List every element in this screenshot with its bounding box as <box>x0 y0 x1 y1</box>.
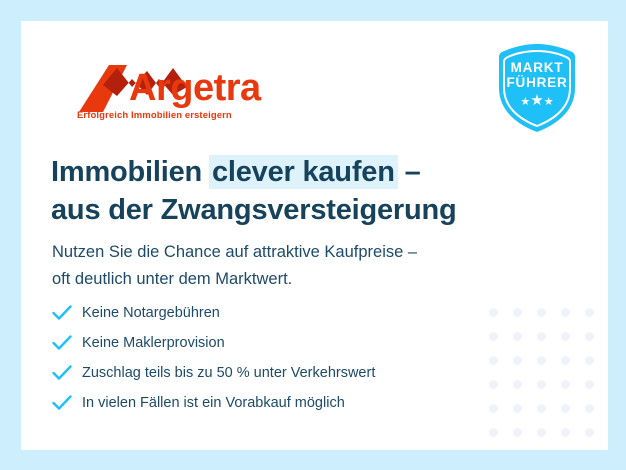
badge-text: MARKT FÜHRER <box>494 60 580 90</box>
list-item: Keine Maklerprovision <box>52 328 532 358</box>
benefit-label: Keine Maklerprovision <box>82 333 225 353</box>
star-icon: ★ <box>530 92 543 109</box>
dot <box>585 332 594 341</box>
dot <box>513 428 522 437</box>
dot <box>537 308 546 317</box>
check-icon <box>52 365 82 381</box>
dot <box>537 380 546 389</box>
market-leader-badge: MARKT FÜHRER ★★★ <box>494 42 580 134</box>
check-icon <box>52 305 82 321</box>
headline-highlight: clever kaufen <box>209 155 398 189</box>
benefit-label: Keine Notargebühren <box>82 303 220 323</box>
dot <box>585 404 594 413</box>
check-icon <box>52 395 82 411</box>
headline: Immobilien clever kaufen – aus der Zwang… <box>51 153 591 229</box>
dot <box>585 428 594 437</box>
dot <box>585 380 594 389</box>
dot <box>585 308 594 317</box>
dot <box>537 404 546 413</box>
subheadline-line1: Nutzen Sie die Chance auf attraktive Kau… <box>52 243 417 261</box>
ad-banner-frame: Argetra Erfolgreich Immobilien ersteiger… <box>0 0 626 470</box>
dot <box>561 380 570 389</box>
dot <box>561 356 570 365</box>
dot <box>561 404 570 413</box>
dot <box>537 428 546 437</box>
argetra-logo[interactable]: Argetra Erfolgreich Immobilien ersteiger… <box>77 65 277 127</box>
logo-tagline: Erfolgreich Immobilien ersteigern <box>77 110 232 121</box>
benefit-list: Keine Notargebühren Keine Maklerprovisio… <box>52 298 532 418</box>
dot <box>585 356 594 365</box>
headline-line1-before: Immobilien <box>51 156 210 188</box>
dot <box>489 428 498 437</box>
dot <box>537 356 546 365</box>
benefit-label: Zuschlag teils bis zu 50 % unter Verkehr… <box>82 363 375 383</box>
check-icon <box>52 335 82 351</box>
dot <box>561 428 570 437</box>
badge-star-row: ★★★ <box>494 94 580 109</box>
dot <box>537 332 546 341</box>
list-item: Keine Notargebühren <box>52 298 532 328</box>
badge-line-1: MARKT <box>494 60 580 75</box>
dot <box>561 332 570 341</box>
benefit-label: In vielen Fällen ist ein Vorabkauf mögli… <box>82 393 345 413</box>
dot <box>561 308 570 317</box>
subheadline-line2: oft deutlich unter dem Marktwert. <box>52 270 292 288</box>
star-icon: ★ <box>520 96 530 108</box>
headline-line2: aus der Zwangsversteigerung <box>51 194 457 226</box>
ad-card: Argetra Erfolgreich Immobilien ersteiger… <box>21 21 608 450</box>
subheadline: Nutzen Sie die Chance auf attraktive Kau… <box>52 239 572 293</box>
star-icon: ★ <box>544 96 554 108</box>
list-item: In vielen Fällen ist ein Vorabkauf mögli… <box>52 388 532 418</box>
badge-line-2: FÜHRER <box>494 75 580 90</box>
headline-line1-after: – <box>397 156 421 188</box>
list-item: Zuschlag teils bis zu 50 % unter Verkehr… <box>52 358 532 388</box>
logo-wordmark: Argetra <box>129 65 261 111</box>
